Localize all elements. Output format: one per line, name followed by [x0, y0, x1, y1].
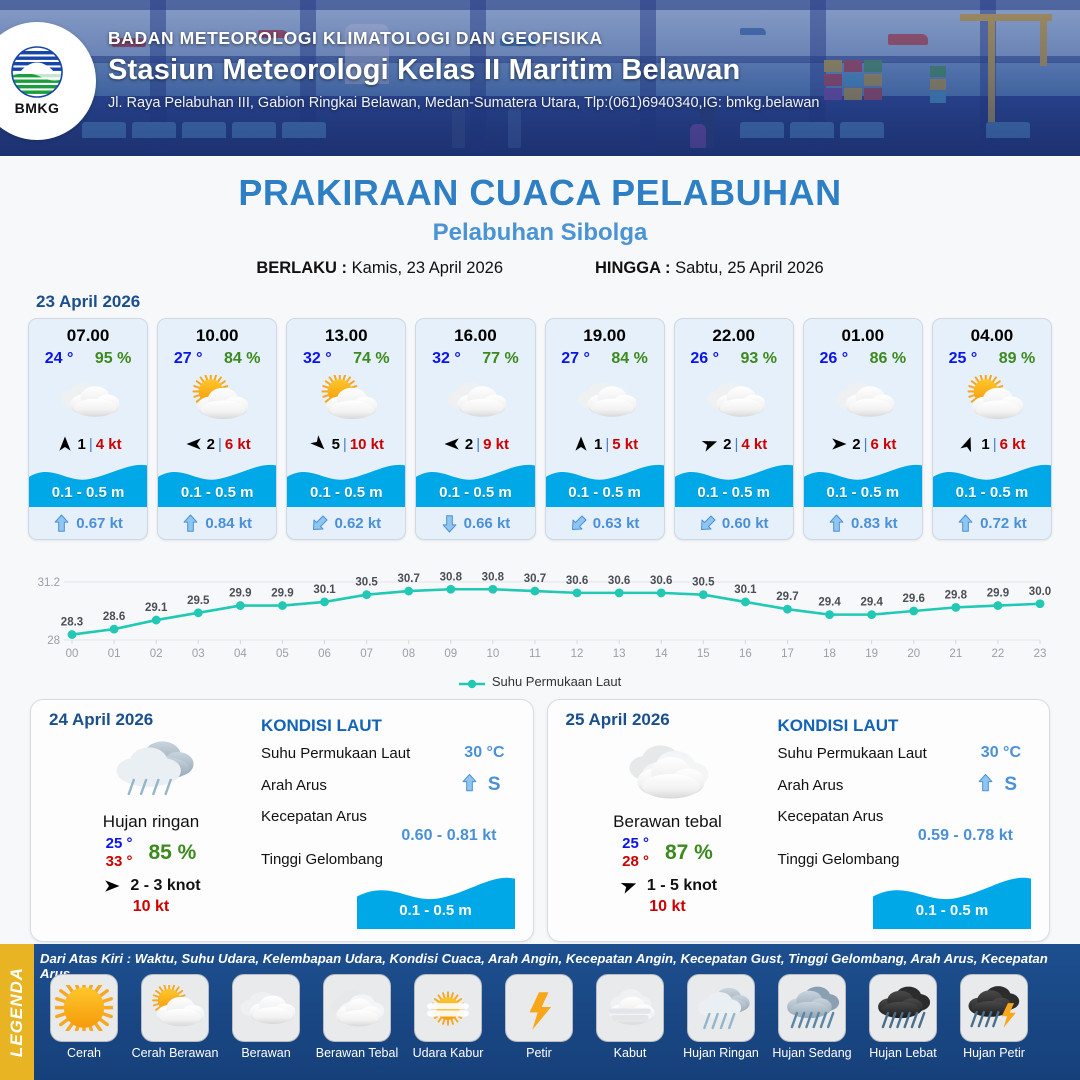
svg-text:16: 16 — [739, 648, 752, 660]
card-temperature: 26 ° — [690, 350, 719, 368]
svg-text:29.8: 29.8 — [945, 589, 968, 601]
daily-gust: 10 kt — [49, 898, 253, 916]
svg-text:18: 18 — [823, 648, 836, 660]
current-speed: 0.67 kt — [76, 515, 123, 532]
wave-height-band: 0.1 - 0.5 m — [804, 460, 922, 507]
svg-text:29.5: 29.5 — [187, 595, 210, 607]
hujan-sedang-icon — [778, 974, 846, 1042]
card-temperature: 26 ° — [820, 350, 849, 368]
svg-text:09: 09 — [444, 648, 457, 660]
wind-speed: 10 kt — [350, 436, 384, 453]
legend-item-label: Berawan Tebal — [316, 1046, 398, 1060]
card-time: 01.00 — [804, 326, 922, 346]
wind-direction-arrow-icon — [309, 435, 329, 453]
daily-wind-direction-arrow-icon — [618, 877, 640, 895]
card-humidity: 89 % — [999, 350, 1035, 368]
wave-height-band: 0.1 - 0.5 m — [158, 460, 276, 507]
wind-direction-value: 1 — [594, 436, 602, 453]
current-direction-arrow-icon — [828, 513, 845, 534]
svg-text:10: 10 — [486, 648, 499, 660]
wind-direction-arrow-icon — [55, 435, 75, 453]
current-speed: 0.66 kt — [464, 515, 511, 532]
card-humidity: 86 % — [870, 350, 906, 368]
legend-item-label: Hujan Sedang — [772, 1046, 851, 1060]
current-direction-value: S — [488, 774, 501, 796]
legenda-tab-label: LEGENDA — [7, 967, 27, 1057]
validity-row: BERLAKU : Kamis, 23 April 2026 HINGGA : … — [0, 259, 1080, 278]
wave-height-value: 0.1 - 0.5 m — [29, 484, 147, 501]
svg-text:02: 02 — [150, 648, 163, 660]
legend-item: Cerah — [40, 974, 128, 1060]
daily-wind-direction-arrow-icon — [101, 877, 123, 895]
svg-text:23: 23 — [1034, 648, 1047, 660]
daily-current-direction-arrow-icon — [977, 771, 994, 799]
wind-direction-arrow-icon — [571, 435, 591, 453]
daily-sea-conditions: KONDISI LAUT Suhu Permukaan Laut 30 °C A… — [253, 710, 529, 937]
card-humidity: 84 % — [611, 350, 647, 368]
hourly-card[interactable]: 16.00 32 ° 77 % — [415, 318, 535, 540]
card-humidity: 77 % — [482, 350, 518, 368]
wind-speed: 9 kt — [483, 436, 509, 453]
legenda-tab: LEGENDA — [0, 944, 34, 1080]
station-address: Jl. Raya Pelabuhan III, Gabion Ringkai B… — [108, 95, 1048, 111]
wind-direction-arrow-icon — [958, 435, 978, 453]
sst-chart: 31.22828.30028.60129.10229.50329.90429.9… — [0, 554, 1080, 672]
legend-item-label: Hujan Petir — [963, 1046, 1025, 1060]
sst-label: Suhu Permukaan Laut — [261, 745, 410, 762]
hourly-forecast-row: 07.00 24 ° 95 % — [0, 318, 1080, 540]
card-time: 13.00 — [287, 326, 405, 346]
legend-item: Hujan Sedang — [768, 974, 856, 1060]
daily-temp-min: 25 ° — [106, 835, 133, 852]
valid-from: BERLAKU : Kamis, 23 April 2026 — [256, 259, 503, 278]
wind-direction-arrow-icon — [700, 435, 720, 453]
legend-item: Hujan Petir — [950, 974, 1038, 1060]
current-direction-label: Arah Arus — [778, 777, 844, 794]
valid-to: HINGGA : Sabtu, 25 April 2026 — [595, 259, 824, 278]
svg-text:29.4: 29.4 — [818, 597, 841, 609]
wind-separator: | — [993, 436, 997, 453]
current-speed: 0.83 kt — [851, 515, 898, 532]
svg-text:30.8: 30.8 — [440, 571, 463, 583]
legend-item-label: Cerah — [67, 1046, 101, 1060]
wave-height-value: 0.1 - 0.5 m — [804, 484, 922, 501]
legend-item-label: Petir — [526, 1046, 552, 1060]
svg-text:00: 00 — [66, 648, 79, 660]
svg-text:31.2: 31.2 — [38, 577, 60, 589]
current-direction-value: S — [1004, 774, 1017, 796]
berawan-icon — [804, 368, 922, 430]
wave-height-band: 0.1 - 0.5 m — [416, 460, 534, 507]
valid-from-label: BERLAKU : — [256, 259, 347, 277]
wave-height-band: 0.1 - 0.5 m — [675, 460, 793, 507]
daily-sea-conditions: KONDISI LAUT Suhu Permukaan Laut 30 °C A… — [770, 710, 1046, 937]
wind-direction-arrow-icon — [829, 435, 849, 453]
hujan-petir-icon — [960, 974, 1028, 1042]
hourly-card[interactable]: 13.00 32 ° 74 % 5 | 10 kt — [286, 318, 406, 540]
svg-text:29.9: 29.9 — [271, 588, 293, 600]
sst-value: 30 °C — [981, 744, 1035, 762]
wind-direction-value: 2 — [852, 436, 860, 453]
legend-item: Kabut — [586, 974, 674, 1060]
svg-text:29.4: 29.4 — [860, 597, 883, 609]
daily-forecast-row: 24 April 2026 Hujan ringan 25 ° — [0, 689, 1080, 942]
sea-conditions-title: KONDISI LAUT — [778, 716, 1036, 736]
berawan-tebal-icon — [566, 732, 770, 810]
current-speed: 0.60 kt — [722, 515, 769, 532]
bmkg-logo-mark — [7, 46, 67, 98]
agency-name: BADAN METEOROLOGI KLIMATOLOGI DAN GEOFIS… — [108, 28, 1048, 49]
station-name: Stasiun Meteorologi Kelas II Maritim Bel… — [108, 54, 1048, 87]
daily-wave-value: 0.1 - 0.5 m — [357, 902, 515, 919]
wind-separator: | — [89, 436, 93, 453]
svg-text:30.1: 30.1 — [313, 584, 336, 596]
berawan-icon — [675, 368, 793, 430]
daily-temp-max: 33 ° — [106, 853, 133, 870]
sst-chart-svg: 31.22828.30028.60129.10229.50329.90429.9… — [26, 554, 1054, 666]
chart-legend: Suhu Permukaan Laut — [0, 674, 1080, 689]
card-time: 07.00 — [29, 326, 147, 346]
title-section: PRAKIRAAN CUACA PELABUHAN Pelabuhan Sibo… — [0, 156, 1080, 278]
card-humidity: 93 % — [741, 350, 777, 368]
legend-item: Cerah Berawan — [131, 974, 219, 1060]
svg-text:01: 01 — [108, 648, 121, 660]
legend-item-label: Cerah Berawan — [132, 1046, 219, 1060]
daily-date: 25 April 2026 — [566, 710, 770, 730]
daily-temp-min: 25 ° — [622, 835, 649, 852]
berawan-icon — [416, 368, 534, 430]
current-direction-arrow-icon — [957, 513, 974, 534]
current-speed: 0.84 kt — [205, 515, 252, 532]
svg-text:28.6: 28.6 — [103, 611, 125, 623]
svg-text:30.5: 30.5 — [692, 577, 715, 589]
svg-text:20: 20 — [907, 648, 920, 660]
svg-text:03: 03 — [192, 648, 205, 660]
svg-text:30.0: 30.0 — [1029, 586, 1051, 598]
chart-legend-label: Suhu Permukaan Laut — [492, 674, 621, 689]
card-time: 16.00 — [416, 326, 534, 346]
cerah-berawan-icon — [158, 368, 276, 430]
daily-wind-text: 2 - 3 knot — [130, 877, 200, 895]
wind-direction-value: 2 — [723, 436, 731, 453]
sst-label: Suhu Permukaan Laut — [778, 745, 927, 762]
wave-height-value: 0.1 - 0.5 m — [933, 484, 1051, 501]
card-humidity: 74 % — [353, 350, 389, 368]
wind-separator: | — [605, 436, 609, 453]
valid-to-value: Sabtu, 25 April 2026 — [675, 259, 824, 277]
legend-item: Petir — [495, 974, 583, 1060]
wind-separator: | — [734, 436, 738, 453]
current-speed-value: 0.59 - 0.78 kt — [918, 827, 1013, 845]
hujan-ringan-icon — [49, 732, 253, 810]
daily-wave-box: 0.1 - 0.5 m — [357, 873, 515, 929]
legend-items: Cerah Cerah Berawan — [40, 974, 1076, 1060]
daily-condition: Hujan ringan — [49, 812, 253, 832]
daily-forecast-panel[interactable]: 25 April 2026 Berawan tebal — [547, 699, 1051, 942]
cerah-berawan-icon — [933, 368, 1051, 430]
wind-speed: 6 kt — [225, 436, 251, 453]
card-temperature: 32 ° — [303, 350, 332, 368]
cerah-berawan-icon — [287, 368, 405, 430]
wind-speed: 5 kt — [612, 436, 638, 453]
hujan-lebat-icon — [869, 974, 937, 1042]
card-temperature: 32 ° — [432, 350, 461, 368]
page-header: BMKG BADAN METEOROLOGI KLIMATOLOGI DAN G… — [0, 0, 1080, 156]
daily-wind-text: 1 - 5 knot — [647, 877, 717, 895]
wind-speed: 4 kt — [96, 436, 122, 453]
wave-height-value: 0.1 - 0.5 m — [416, 484, 534, 501]
legend-item-label: Hujan Lebat — [869, 1046, 936, 1060]
hourly-card[interactable]: 19.00 27 ° 84 % — [545, 318, 665, 540]
card-time: 22.00 — [675, 326, 793, 346]
bmkg-logo-text: BMKG — [15, 100, 60, 116]
chart-legend-marker — [459, 677, 485, 687]
wind-speed: 6 kt — [1000, 436, 1026, 453]
legend-item-label: Udara Kabur — [413, 1046, 484, 1060]
svg-text:30.6: 30.6 — [566, 575, 588, 587]
svg-text:30.6: 30.6 — [650, 575, 672, 587]
valid-to-label: HINGGA : — [595, 259, 670, 277]
wave-height-band: 0.1 - 0.5 m — [287, 460, 405, 507]
page-title: PRAKIRAAN CUACA PELABUHAN — [0, 172, 1080, 214]
svg-text:05: 05 — [276, 648, 289, 660]
svg-text:08: 08 — [402, 648, 415, 660]
svg-text:29.9: 29.9 — [987, 588, 1009, 600]
petir-icon — [505, 974, 573, 1042]
card-time: 19.00 — [546, 326, 664, 346]
daily-temp-max: 28 ° — [622, 853, 649, 870]
svg-text:13: 13 — [613, 648, 626, 660]
udara-kabur-icon — [414, 974, 482, 1042]
page-subtitle: Pelabuhan Sibolga — [0, 219, 1080, 247]
hourly-card[interactable]: 22.00 26 ° 93 % — [674, 318, 794, 540]
svg-text:29.9: 29.9 — [229, 588, 251, 600]
card-humidity: 84 % — [224, 350, 260, 368]
daily-current-direction-arrow-icon — [461, 771, 478, 799]
berawan-icon — [29, 368, 147, 430]
card-humidity: 95 % — [95, 350, 131, 368]
svg-text:14: 14 — [655, 648, 668, 660]
legend-item: Berawan Tebal — [313, 974, 401, 1060]
svg-text:12: 12 — [571, 648, 584, 660]
daily-wave-value: 0.1 - 0.5 m — [873, 902, 1031, 919]
svg-text:22: 22 — [992, 648, 1005, 660]
wave-height-label: Tinggi Gelombang — [778, 851, 900, 868]
current-direction-arrow-icon — [441, 513, 458, 534]
svg-text:19: 19 — [865, 648, 878, 660]
daily-humidity: 87 % — [665, 841, 713, 865]
svg-text:17: 17 — [781, 648, 794, 660]
current-speed: 0.63 kt — [593, 515, 640, 532]
svg-text:30.7: 30.7 — [524, 573, 546, 585]
legend-item-label: Hujan Ringan — [683, 1046, 759, 1060]
svg-text:29.1: 29.1 — [145, 602, 168, 614]
wind-direction-arrow-icon — [184, 435, 204, 453]
wind-speed: 6 kt — [871, 436, 897, 453]
current-speed-label: Kecepatan Arus — [778, 808, 884, 825]
daily-forecast-panel[interactable]: 24 April 2026 Hujan ringan 25 ° — [30, 699, 534, 942]
hourly-card[interactable]: 10.00 27 ° 84 % 2 | 6 kt — [157, 318, 277, 540]
wave-height-value: 0.1 - 0.5 m — [675, 484, 793, 501]
svg-text:29.7: 29.7 — [776, 591, 798, 603]
valid-from-value: Kamis, 23 April 2026 — [352, 259, 503, 277]
kabut-icon — [596, 974, 664, 1042]
current-direction-arrow-icon — [699, 513, 716, 534]
daily-humidity: 85 % — [148, 841, 196, 865]
card-temperature: 27 ° — [174, 350, 203, 368]
svg-text:30.1: 30.1 — [734, 584, 757, 596]
wind-direction-value: 1 — [981, 436, 989, 453]
wind-separator: | — [343, 436, 347, 453]
wind-separator: | — [476, 436, 480, 453]
legend-item-label: Berawan — [241, 1046, 290, 1060]
berawan-icon — [232, 974, 300, 1042]
current-direction-arrow-icon — [311, 513, 328, 534]
svg-text:07: 07 — [360, 648, 373, 660]
daily-date: 24 April 2026 — [49, 710, 253, 730]
sst-value: 30 °C — [464, 744, 518, 762]
daily-gust: 10 kt — [566, 898, 770, 916]
svg-text:30.7: 30.7 — [398, 573, 420, 585]
svg-text:30.8: 30.8 — [482, 571, 505, 583]
current-direction-arrow-icon — [570, 513, 587, 534]
daily-left: 24 April 2026 Hujan ringan 25 ° — [35, 710, 253, 937]
hourly-card[interactable]: 07.00 24 ° 95 % — [28, 318, 148, 540]
wind-direction-value: 1 — [78, 436, 86, 453]
card-time: 04.00 — [933, 326, 1051, 346]
card-temperature: 25 ° — [949, 350, 978, 368]
hujan-ringan-icon — [687, 974, 755, 1042]
hourly-card[interactable]: 01.00 26 ° 86 % — [803, 318, 923, 540]
svg-text:04: 04 — [234, 648, 247, 660]
wind-separator: | — [218, 436, 222, 453]
current-speed: 0.62 kt — [334, 515, 381, 532]
current-speed-value: 0.60 - 0.81 kt — [401, 827, 496, 845]
wave-height-value: 0.1 - 0.5 m — [546, 484, 664, 501]
legend-item: Berawan — [222, 974, 310, 1060]
wind-direction-value: 2 — [207, 436, 215, 453]
daily-wave-box: 0.1 - 0.5 m — [873, 873, 1031, 929]
cerah-berawan-icon — [141, 974, 209, 1042]
legend-footer: LEGENDA Dari Atas Kiri : Waktu, Suhu Uda… — [0, 944, 1080, 1080]
svg-text:29.6: 29.6 — [903, 593, 925, 605]
card-temperature: 27 ° — [561, 350, 590, 368]
svg-text:30.5: 30.5 — [355, 577, 378, 589]
daily-condition: Berawan tebal — [566, 812, 770, 832]
current-speed-label: Kecepatan Arus — [261, 808, 367, 825]
svg-text:11: 11 — [529, 648, 541, 660]
current-direction-label: Arah Arus — [261, 777, 327, 794]
svg-text:28: 28 — [47, 635, 60, 647]
legend-item: Hujan Lebat — [859, 974, 947, 1060]
current-speed: 0.72 kt — [980, 515, 1027, 532]
wave-height-label: Tinggi Gelombang — [261, 851, 383, 868]
wave-height-value: 0.1 - 0.5 m — [158, 484, 276, 501]
svg-text:21: 21 — [949, 648, 962, 660]
wave-height-value: 0.1 - 0.5 m — [287, 484, 405, 501]
svg-text:15: 15 — [697, 648, 710, 660]
hourly-day-label: 23 April 2026 — [36, 292, 1080, 312]
wind-direction-value: 5 — [332, 436, 340, 453]
svg-text:30.6: 30.6 — [608, 575, 630, 587]
svg-text:06: 06 — [318, 648, 331, 660]
current-direction-arrow-icon — [182, 513, 199, 534]
wind-direction-value: 2 — [465, 436, 473, 453]
legend-item-label: Kabut — [614, 1046, 647, 1060]
wave-height-band: 0.1 - 0.5 m — [546, 460, 664, 507]
legend-item: Udara Kabur — [404, 974, 492, 1060]
wind-separator: | — [864, 436, 868, 453]
wind-direction-arrow-icon — [442, 435, 462, 453]
legend-item: Hujan Ringan — [677, 974, 765, 1060]
wind-speed: 4 kt — [741, 436, 767, 453]
daily-left: 25 April 2026 Berawan tebal — [552, 710, 770, 937]
current-direction-arrow-icon — [53, 513, 70, 534]
berawan-icon — [546, 368, 664, 430]
berawan-tebal-icon — [323, 974, 391, 1042]
hourly-card[interactable]: 04.00 25 ° 89 % 1 | 6 kt — [932, 318, 1052, 540]
cerah-icon — [50, 974, 118, 1042]
card-temperature: 24 ° — [45, 350, 74, 368]
wave-height-band: 0.1 - 0.5 m — [933, 460, 1051, 507]
wave-height-band: 0.1 - 0.5 m — [29, 460, 147, 507]
svg-text:28.3: 28.3 — [61, 617, 83, 629]
sea-conditions-title: KONDISI LAUT — [261, 716, 519, 736]
card-time: 10.00 — [158, 326, 276, 346]
